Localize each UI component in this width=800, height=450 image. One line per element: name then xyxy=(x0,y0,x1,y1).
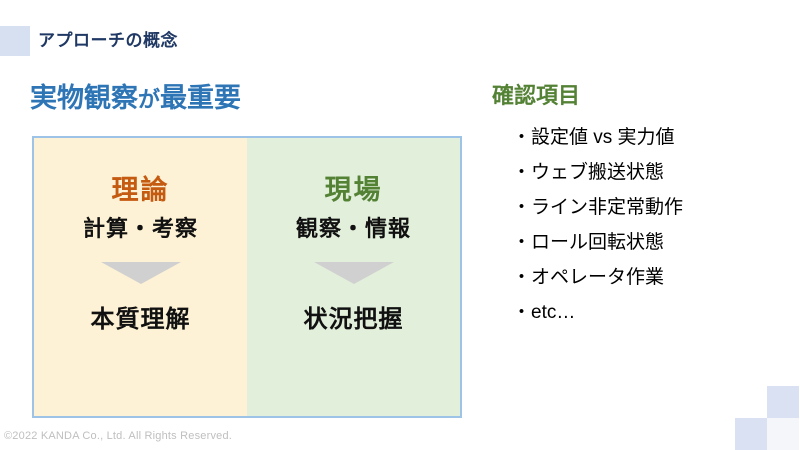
panel-field-subtitle: 観察・情報 xyxy=(296,216,411,242)
comparison-box: 理論 計算・考察 本質理解 現場 観察・情報 状況把握 xyxy=(32,136,462,418)
panel-theory: 理論 計算・考察 本質理解 xyxy=(34,138,247,416)
corner-square-bottom-left xyxy=(735,418,767,450)
panel-theory-result: 本質理解 xyxy=(91,306,191,334)
list-item: ・ロール回転状態 xyxy=(512,225,792,260)
panel-field: 現場 観察・情報 状況把握 xyxy=(247,138,460,416)
panel-theory-title: 理論 xyxy=(112,174,170,206)
checklist-heading: 確認項目 xyxy=(492,82,580,110)
list-item: ・ウェブ搬送状態 xyxy=(512,155,792,190)
panel-field-title: 現場 xyxy=(325,174,383,206)
list-item: ・ライン非定常動作 xyxy=(512,190,792,225)
down-arrow-icon xyxy=(314,262,394,284)
corner-decoration xyxy=(735,386,799,450)
corner-square-top-left xyxy=(735,386,767,418)
list-item: ・オペレータ作業 xyxy=(512,260,792,295)
checklist: ・設定値 vs 実力値 ・ウェブ搬送状態 ・ライン非定常動作 ・ロール回転状態 … xyxy=(512,120,792,330)
left-heading-main: 実物観察 xyxy=(30,83,138,113)
left-heading-tail: 最重要 xyxy=(160,83,241,113)
down-arrow-icon xyxy=(101,262,181,284)
page-title: アプローチの概念 xyxy=(38,28,178,54)
list-item: ・etc… xyxy=(512,295,792,330)
panel-field-result: 状況把握 xyxy=(304,306,404,334)
footer-copyright: ©2022 KANDA Co., Ltd. All Rights Reserve… xyxy=(4,430,232,442)
header-accent-block xyxy=(0,26,30,56)
left-heading-particle: が xyxy=(138,87,160,112)
list-item: ・設定値 vs 実力値 xyxy=(512,120,792,155)
left-section-heading: 実物観察が最重要 xyxy=(30,80,241,118)
corner-square-top-right xyxy=(767,386,799,418)
panel-theory-subtitle: 計算・考察 xyxy=(83,216,198,242)
corner-square-bottom-right xyxy=(767,418,799,450)
